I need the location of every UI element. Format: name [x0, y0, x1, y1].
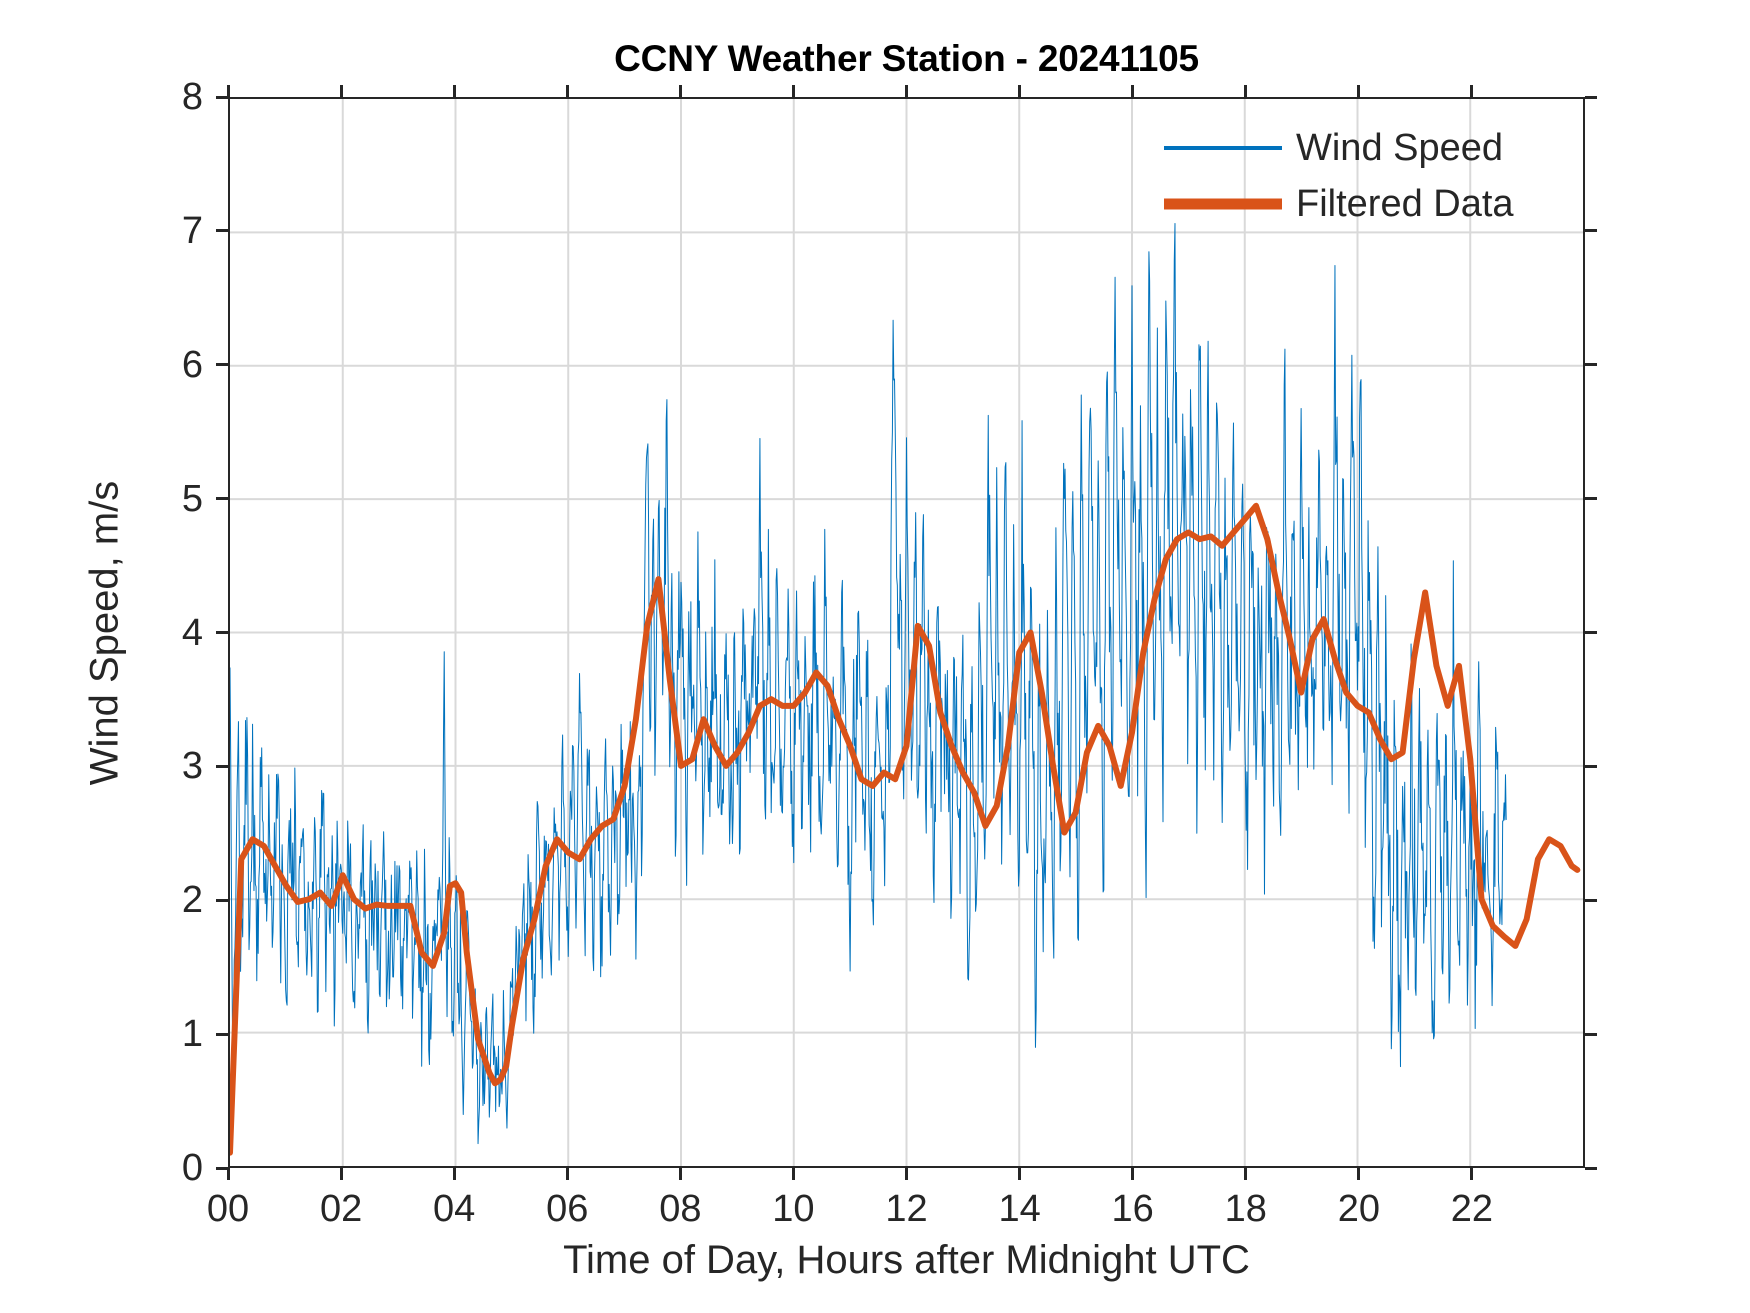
chart-figure: CCNY Weather Station - 20241105 01234567… [0, 0, 1750, 1313]
x-tick-label-04: 04 [404, 1190, 504, 1228]
y-tick-label-3: 3 [143, 747, 203, 785]
y-tick-label-4: 4 [143, 614, 203, 652]
y-tickmark [1585, 765, 1597, 768]
y-axis-label-wrap: Wind Speed, m/s [45, 97, 105, 1168]
y-tickmark [216, 229, 228, 232]
y-tickmark [1585, 363, 1597, 366]
legend-label-filtered-data: Filtered Data [1282, 183, 1514, 226]
x-tick-label-02: 02 [291, 1190, 391, 1228]
chart-title: CCNY Weather Station - 20241105 [228, 38, 1585, 80]
y-tick-label-2: 2 [143, 881, 203, 919]
x-tickmark [566, 1168, 569, 1180]
y-tickmark [1585, 631, 1597, 634]
x-tickmark [1131, 1168, 1134, 1180]
x-tick-label-22: 22 [1422, 1190, 1522, 1228]
x-tickmark [792, 1168, 795, 1180]
x-tickmark [340, 1168, 343, 1180]
plot-area [228, 97, 1585, 1168]
x-tickmark [1470, 1168, 1473, 1180]
x-tickmark [1131, 85, 1134, 97]
y-tickmark [216, 1033, 228, 1036]
y-tickmark [1585, 899, 1597, 902]
x-tick-label-14: 14 [970, 1190, 1070, 1228]
x-tickmark [227, 1168, 230, 1180]
x-tickmark [679, 85, 682, 97]
legend-item-filtered-data[interactable]: Filtered Data [1164, 176, 1484, 232]
y-tick-label-7: 7 [143, 212, 203, 250]
x-tickmark [453, 85, 456, 97]
x-tickmark [679, 1168, 682, 1180]
x-tickmark [227, 85, 230, 97]
y-tickmark [216, 363, 228, 366]
x-tickmark [1470, 85, 1473, 97]
chart-legend: Wind Speed Filtered Data [1164, 120, 1484, 232]
y-tickmark [1585, 96, 1597, 99]
y-tick-label-1: 1 [143, 1015, 203, 1053]
x-tick-label-10: 10 [743, 1190, 843, 1228]
y-tickmark [1585, 229, 1597, 232]
y-tickmark [1585, 1033, 1597, 1036]
x-tickmark [1357, 85, 1360, 97]
x-tick-label-18: 18 [1196, 1190, 1296, 1228]
legend-label-wind-speed: Wind Speed [1282, 127, 1503, 170]
y-tickmark [1585, 497, 1597, 500]
legend-item-wind-speed[interactable]: Wind Speed [1164, 120, 1484, 176]
series-line-wind-speed [230, 223, 1506, 1143]
x-tickmark [905, 1168, 908, 1180]
x-tickmark [1018, 85, 1021, 97]
x-tick-label-20: 20 [1309, 1190, 1409, 1228]
x-tick-label-06: 06 [517, 1190, 617, 1228]
y-tick-label-0: 0 [143, 1149, 203, 1187]
x-tickmark [1018, 1168, 1021, 1180]
x-tickmark [1244, 85, 1247, 97]
x-tickmark [566, 85, 569, 97]
data-layer [230, 99, 1583, 1166]
y-tickmark [216, 765, 228, 768]
x-tickmark [905, 85, 908, 97]
x-axis-label: Time of Day, Hours after Midnight UTC [228, 1238, 1585, 1283]
y-tick-label-8: 8 [143, 78, 203, 116]
y-tick-label-5: 5 [143, 480, 203, 518]
legend-swatch-wind-speed [1164, 120, 1282, 176]
y-tickmark [216, 899, 228, 902]
x-tick-label-08: 08 [630, 1190, 730, 1228]
x-tick-label-16: 16 [1083, 1190, 1183, 1228]
y-axis-label: Wind Speed, m/s [83, 323, 128, 943]
x-tickmark [792, 85, 795, 97]
x-tickmark [1244, 1168, 1247, 1180]
y-tickmark [1585, 1167, 1597, 1170]
legend-swatch-filtered-data [1164, 176, 1282, 232]
x-tick-label-00: 00 [178, 1190, 278, 1228]
y-tickmark [216, 631, 228, 634]
x-tickmark [1357, 1168, 1360, 1180]
series-line-filtered-data [230, 506, 1577, 1153]
y-tickmark [216, 497, 228, 500]
x-tickmark [453, 1168, 456, 1180]
x-tick-label-12: 12 [857, 1190, 957, 1228]
y-tick-label-6: 6 [143, 346, 203, 384]
x-tickmark [340, 85, 343, 97]
